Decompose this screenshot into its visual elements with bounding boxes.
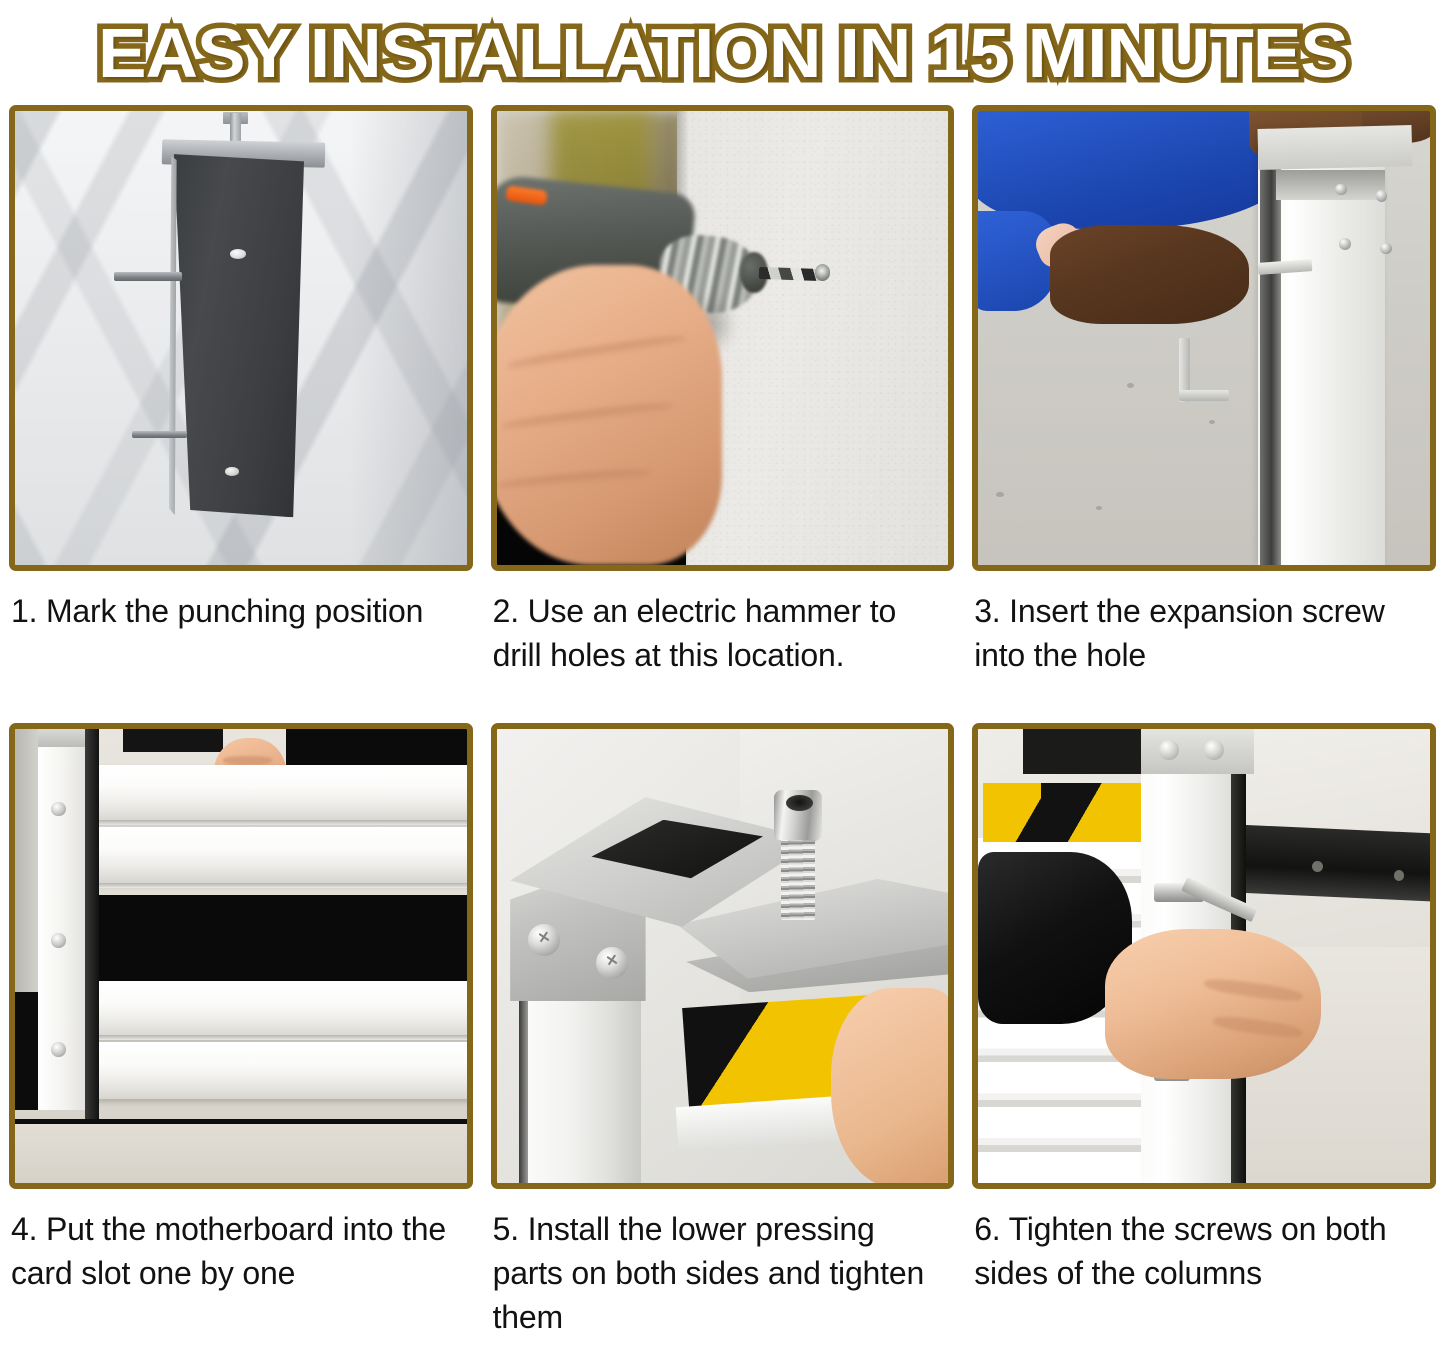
phillips-screw-icon	[1159, 740, 1179, 760]
column-bolt-hole	[51, 802, 65, 817]
floor-base-rail	[1230, 824, 1430, 901]
column-screw-icon	[1339, 238, 1351, 250]
column-screw-icon	[1335, 184, 1347, 196]
drill-bit-tip-icon	[815, 264, 830, 280]
step-photo-2	[497, 111, 949, 565]
step-caption-4: 4. Put the motherboard into the card slo…	[9, 1189, 473, 1347]
step-image-frame-5	[491, 723, 955, 1189]
step-cell-1: 1. Mark the punching position	[0, 105, 482, 723]
step-caption-3: 3. Insert the expansion screw into the h…	[972, 571, 1436, 723]
barrier-board	[87, 765, 466, 822]
barrier-board	[87, 827, 466, 884]
board-groove	[87, 1035, 466, 1040]
floor	[15, 1124, 467, 1183]
step-image-frame-4	[9, 723, 473, 1189]
board-groove	[87, 883, 466, 888]
barrier-board	[87, 981, 466, 1038]
phillips-screw-icon	[528, 924, 560, 956]
hand-icon	[831, 988, 948, 1183]
step-image-frame-6	[972, 723, 1436, 1189]
board-groove	[87, 820, 466, 825]
marking-template-plate	[169, 154, 304, 517]
allen-key-short-arm-icon	[1179, 390, 1229, 401]
step-cell-4: 4. Put the motherboard into the card slo…	[0, 723, 482, 1347]
step-cell-5: 5. Install the lower pressing parts on b…	[482, 723, 964, 1347]
step-caption-6: 6. Tighten the screws on both sides of t…	[972, 1189, 1436, 1347]
step-cell-3: 3. Insert the expansion screw into the h…	[963, 105, 1445, 723]
column-bolt-hole	[51, 1042, 65, 1057]
dark-top-region-2	[123, 729, 222, 752]
step-image-frame-1	[9, 105, 473, 571]
step-image-frame-3	[972, 105, 1436, 571]
barrier-board	[87, 1042, 466, 1099]
worker-arm	[1050, 225, 1249, 325]
installation-steps-grid: 1. Mark the punching position	[0, 105, 1445, 1347]
hazard-tape-stripe-2	[1041, 783, 1145, 842]
step-cell-6: 6. Tighten the screws on both sides of t…	[963, 723, 1445, 1347]
column-bolt-hole	[51, 933, 65, 948]
step-photo-4	[15, 729, 467, 1183]
template-hole-lower	[225, 467, 239, 475]
page-header: EASY INSTALLATION IN 15 MINUTES	[0, 0, 1445, 105]
page-title: EASY INSTALLATION IN 15 MINUTES	[98, 18, 1348, 88]
step-photo-6	[978, 729, 1430, 1183]
dark-top-region	[1023, 729, 1140, 774]
step-photo-5	[497, 729, 949, 1183]
hand-icon	[1105, 929, 1322, 1079]
stud-bolt-lower-icon	[132, 431, 186, 438]
base-rail-hole	[1394, 870, 1405, 881]
backdrop-shadow	[349, 111, 466, 565]
hex-socket-hole-icon	[786, 795, 813, 811]
floor-speck	[1096, 506, 1102, 510]
drill-bit-icon	[758, 267, 822, 281]
step-caption-5: 5. Install the lower pressing parts on b…	[491, 1189, 955, 1347]
step-photo-1	[15, 111, 467, 565]
column-screw-icon	[1380, 243, 1392, 255]
step-caption-2: 2. Use an electric hammer to drill holes…	[491, 571, 955, 723]
hex-bolt-thread-icon	[781, 838, 815, 920]
floor-speck	[1209, 420, 1215, 424]
column-top-cap	[38, 729, 92, 747]
finger-crease	[223, 756, 273, 765]
base-rail-hole	[1312, 861, 1323, 872]
step-cell-2: 2. Use an electric hammer to drill holes…	[482, 105, 964, 723]
step-caption-1: 1. Mark the punching position	[9, 571, 473, 723]
steps-row-top: 1. Mark the punching position	[0, 105, 1445, 723]
column-dark-edge	[85, 729, 99, 1119]
steps-row-bottom: 4. Put the motherboard into the card slo…	[0, 723, 1445, 1347]
column-bracket-slot	[1276, 170, 1384, 200]
column-top-cap	[1141, 729, 1254, 774]
step-image-frame-2	[491, 105, 955, 571]
board-gap	[87, 895, 466, 981]
step-photo-3	[978, 111, 1430, 565]
column-top-plate	[1258, 125, 1413, 170]
template-hole-upper	[230, 249, 246, 259]
stud-bolt-upper-icon	[114, 272, 182, 281]
phillips-screw-icon	[596, 947, 628, 979]
